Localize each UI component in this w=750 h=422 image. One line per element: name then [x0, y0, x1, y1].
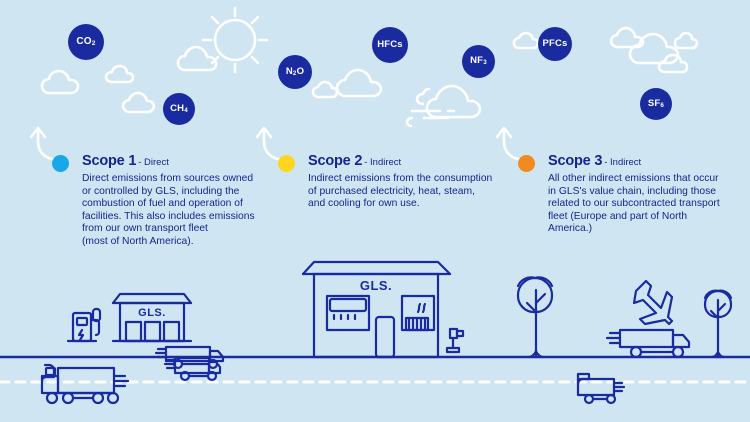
gas-station-sign-text: GLS. [138, 307, 166, 319]
ground-scene-layer: GLS. [0, 0, 750, 422]
truck-icon-right [607, 330, 689, 357]
tree-icon-small [705, 291, 731, 357]
van-icon-bottom-right [578, 374, 624, 403]
ev-charging-station-icon [68, 309, 100, 341]
gls-facility-building [303, 262, 450, 357]
airplane-icon [634, 281, 672, 324]
scope-emissions-infographic: CO2 CH4 N2O HFCs NF3 PFCs SF6 Scope 1- D… [0, 0, 750, 422]
tree-icon-large [518, 277, 552, 357]
semi-truck-icon-bottom-left [42, 365, 128, 403]
water-faucet-icon [447, 329, 463, 352]
facility-sign-text: GLS. [360, 278, 392, 293]
